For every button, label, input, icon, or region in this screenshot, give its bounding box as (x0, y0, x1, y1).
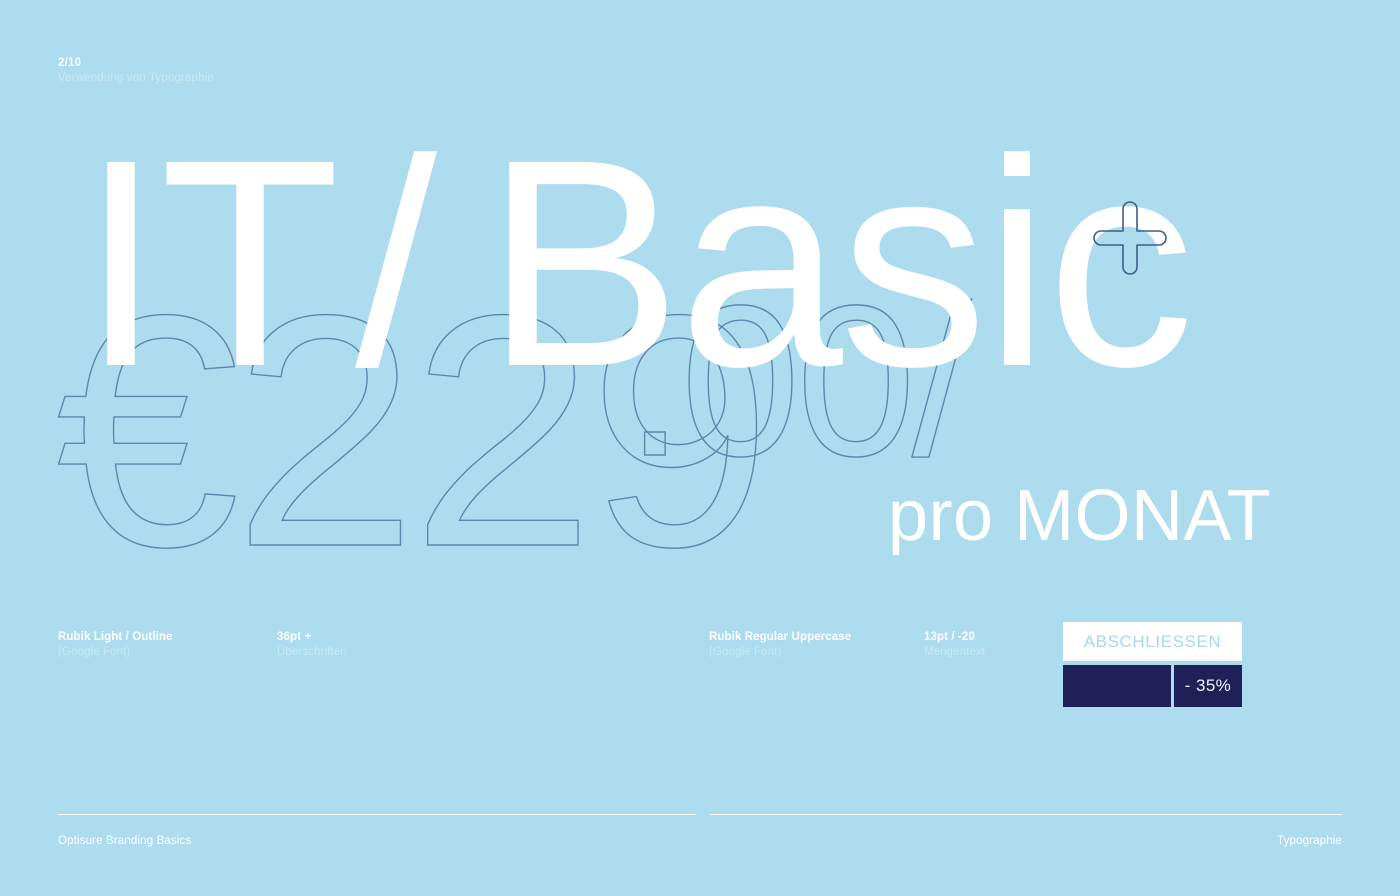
spec-font-secondary: Rubik Regular Uppercase (Google Font) (709, 630, 851, 661)
headline-slash: / (355, 98, 438, 428)
footer-rule-left (58, 814, 696, 815)
headline-solid-layer: IT / Basic (80, 98, 1191, 428)
hero-lettering: €229 .00/ IT / Basic pro MONAT (0, 0, 1400, 600)
spec-size-primary: 36pt + Überschriften (277, 630, 347, 661)
spec-size-secondary-title: 13pt / -20 (924, 630, 985, 645)
spec-font-secondary-sub: (Google Font) (709, 645, 851, 660)
abschliessen-button[interactable]: ABSCHLIESSEN (1063, 622, 1242, 661)
cta-cluster: ABSCHLIESSEN - 35% (1063, 622, 1242, 707)
abschliessen-button-label: ABSCHLIESSEN (1084, 632, 1222, 652)
footer-rule-right (710, 814, 1342, 815)
headline-word-it: IT (80, 98, 338, 428)
discount-badge-swatch (1063, 665, 1171, 707)
discount-badge-label: - 35% (1185, 676, 1231, 696)
spec-size-secondary-sub: Mengentext (924, 645, 985, 660)
slide-canvas: 2/10 Verwendung von Typographie €229 .00… (0, 0, 1400, 896)
spec-size-secondary: 13pt / -20 Mengentext (924, 630, 985, 661)
footer-section-label: Typographie (1277, 835, 1342, 847)
spec-size-primary-title: 36pt + (277, 630, 347, 645)
spec-size-primary-sub: Überschriften (277, 645, 347, 660)
spec-font-primary-sub: (Google Font) (58, 645, 173, 660)
discount-badge: - 35% (1174, 665, 1242, 707)
period-label: pro MONAT (888, 476, 1271, 556)
headline-word-basic: Basic (485, 98, 1191, 428)
hero-typography-stage: €229 .00/ IT / Basic pro MONAT (0, 0, 1400, 600)
spec-font-secondary-title: Rubik Regular Uppercase (709, 630, 851, 645)
footer-project-label: Optisure Branding Basics (58, 835, 191, 847)
spec-font-primary: Rubik Light / Outline (Google Font) (58, 630, 173, 661)
spec-font-primary-title: Rubik Light / Outline (58, 630, 173, 645)
discount-badge-row: - 35% (1063, 665, 1242, 707)
